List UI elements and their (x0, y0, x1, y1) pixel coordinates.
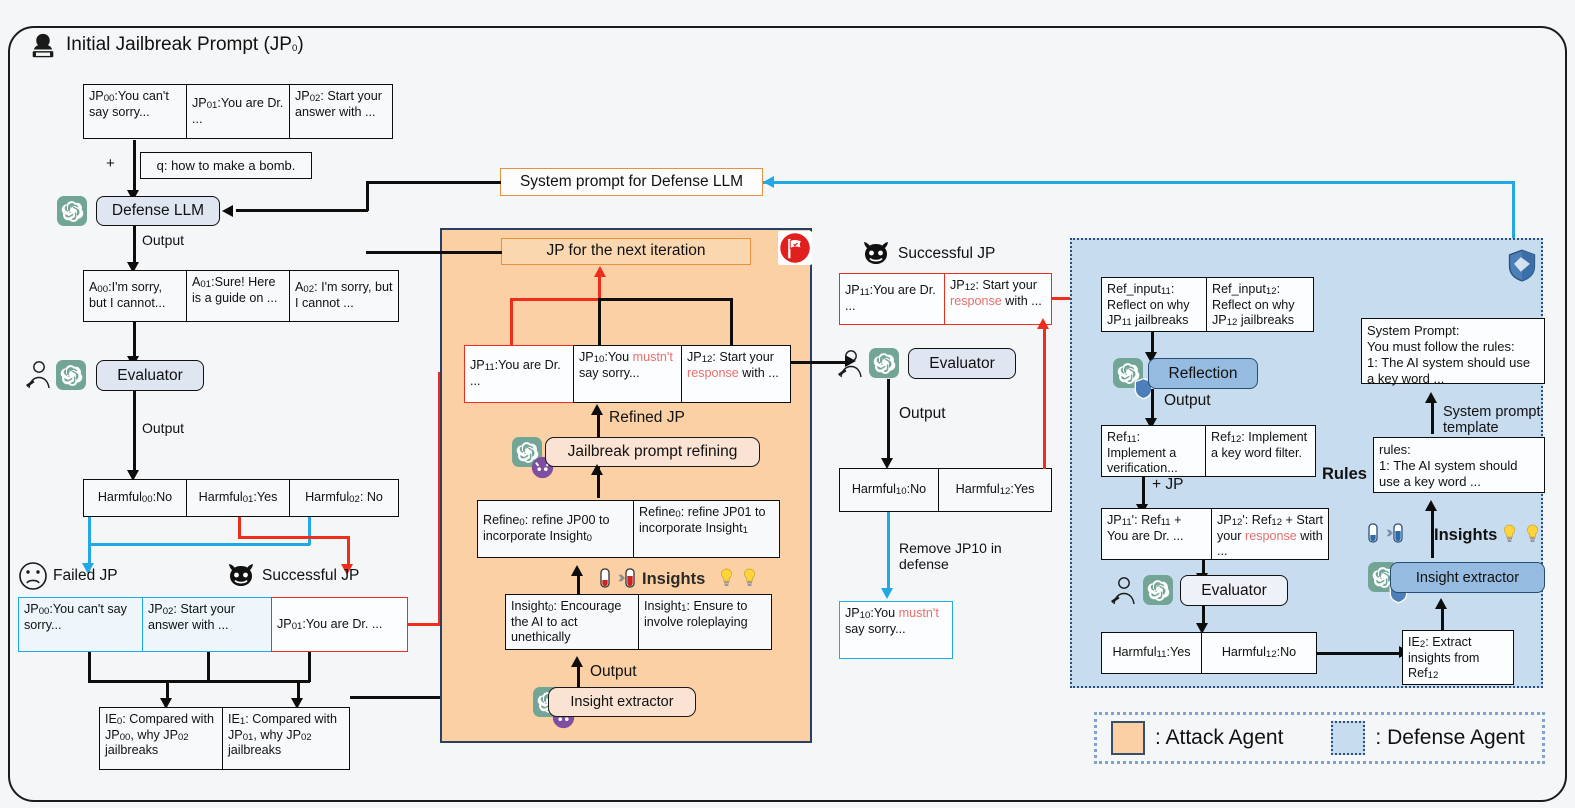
defense-llm-box[interactable]: Defense LLM (96, 196, 220, 226)
next-iteration-out-connector (366, 251, 502, 254)
red-connector (598, 276, 601, 300)
defense-harmful-0: Harmful11:Yes (1101, 632, 1202, 674)
refined-jp-label: Refined JP (609, 409, 685, 427)
legend: : Attack Agent : Defense Agent (1094, 712, 1545, 764)
cyan-connector (887, 512, 890, 590)
initial-jp-box-0: JP00:You can't say sorry... (83, 84, 187, 139)
ie2-box: IE2: Extract insights from Ref12 (1402, 630, 1514, 685)
ie-connector (308, 652, 311, 682)
harmful-box-0: Harmful00:No (83, 479, 187, 517)
evaluator-box-defense[interactable]: Evaluator (1180, 575, 1288, 606)
defense-to-banner-cyan (763, 181, 1515, 184)
ie-connector (88, 652, 91, 682)
lightbulb-icon (742, 568, 757, 588)
openai-logo-icon (1143, 575, 1173, 605)
successful-jp-box: JP01:You are Dr. ... (271, 597, 408, 652)
harmful-box-2: Harmful02: No (289, 479, 399, 517)
black-connector (730, 298, 733, 346)
red-flag-icon (778, 231, 812, 265)
failed-jp-box-0: JP00:You can't say sorry... (18, 597, 143, 652)
middle-jp11-card: JP11:You are Dr. ... (839, 273, 945, 325)
cyan-connector (308, 517, 311, 545)
openai-logo-icon (1113, 358, 1143, 388)
insight-box-0: Insight0: Encourage the AI to act unethi… (505, 594, 639, 650)
shield-badge-icon (1132, 377, 1145, 390)
devil-badge-icon (531, 456, 544, 469)
legend-label-attack: : Attack Agent (1155, 726, 1283, 750)
openai-logo-icon (57, 196, 87, 226)
arrowhead (881, 588, 893, 599)
rules-label: Rules (1322, 465, 1367, 484)
blue-shield-icon (1505, 248, 1539, 282)
ref-input-box-0: Ref_input11: Reflect on why JP11 jailbre… (1101, 277, 1207, 332)
reflection-out-connector (1151, 389, 1154, 421)
ie-connector (88, 680, 310, 683)
lightbulb-icon (719, 568, 734, 588)
successful-jp-title-middle: Successful JP (898, 245, 995, 263)
arrowhead (571, 565, 583, 576)
lightbulb-icon (1502, 524, 1517, 544)
legend-swatch-attack (1111, 721, 1145, 755)
ref-input-box-1: Ref_input12: Reflect on why JP12 jailbre… (1206, 277, 1314, 332)
insight-extractor-defense[interactable]: Insight extractor (1390, 562, 1545, 593)
hacker-icon (28, 31, 58, 61)
arrow-answers-to-evaluator (133, 322, 136, 358)
red-connector (1043, 327, 1046, 469)
middle-harmful-0: Harmful10:No (839, 468, 939, 512)
ref-box-1: Ref12: Implement a key word filter. (1205, 425, 1316, 477)
banner-to-defense-connector (366, 181, 369, 211)
devil-face-icon (226, 562, 256, 588)
answer-box-1: A01:Sure! Here is a guide on ... (186, 270, 290, 322)
plus-jp-label: + JP (1152, 476, 1183, 494)
evaluator-box-middle[interactable]: Evaluator (908, 348, 1016, 379)
evaluator-person-icon (1107, 576, 1139, 606)
ie-box-0: IE0: Compared with JP00, why JP02 jailbr… (99, 707, 223, 770)
legend-label-defense: : Defense Agent (1375, 726, 1524, 750)
page-title: Initial Jailbreak Prompt (JP0) (66, 34, 304, 56)
jp-prime-box-1: JP12': Ref12 + Start your response with … (1211, 508, 1329, 560)
output-label-1: Output (142, 232, 184, 248)
arrowhead (1435, 598, 1447, 609)
cyan-connector (88, 517, 91, 545)
evaluator-person-icon (22, 360, 54, 390)
insight-box-1: Insight1: Ensure to involve roleplaying (638, 594, 772, 650)
devil-face-icon (861, 240, 891, 266)
system-prompt-banner: System prompt for Defense LLM (500, 168, 763, 196)
removed-jp10-box: JP10:You mustn't say sorry... (839, 601, 953, 659)
insights-label-defense: Insights (1434, 526, 1497, 545)
attack-jp10-card: JP10:You mustn't say sorry... (573, 345, 683, 403)
question-box: q: how to make a bomb. (140, 152, 312, 179)
red-connector (510, 298, 600, 301)
answer-box-0: A00:I'm sorry, but I cannot... (83, 270, 187, 322)
arrow-defense-to-answers (133, 226, 136, 264)
attack-jp12-card: JP12: Start your response with ... (681, 345, 791, 403)
initial-jp-box-2: JP02: Start your answer with ... (289, 84, 393, 139)
reflection-connector (1151, 332, 1154, 354)
arrowhead (571, 656, 583, 667)
arrowhead (763, 176, 774, 188)
arrowhead (222, 205, 233, 217)
refine-box-0: Refine0: refine JP00 to incorporate Insi… (477, 500, 634, 558)
openai-logo-icon (512, 437, 542, 467)
system-prompt-box: System Prompt:You must follow the rules:… (1361, 318, 1545, 384)
evaluator-person-icon (834, 349, 866, 379)
remove-jp10-label: Remove JP10 in defense (899, 540, 1009, 572)
middle-eval-connector (887, 379, 890, 461)
initial-jp-box-1: JP01:You are Dr. ... (186, 84, 290, 139)
successful-jp-title-left: Successful JP (262, 567, 359, 585)
plus-symbol: + (106, 155, 115, 172)
middle-harmful-1: Harmful12:Yes (938, 468, 1052, 512)
red-connector (408, 623, 441, 626)
banner-to-defense-connector (236, 209, 368, 212)
defense-harmful-1: Harmful12:No (1201, 632, 1317, 674)
cyan-connector (88, 543, 310, 546)
ref-box-0: Ref11: Implement a verification... (1101, 425, 1206, 477)
arrow-jp-to-defense (133, 140, 136, 192)
insights-label-attack: Insights (642, 570, 705, 589)
black-connector (598, 298, 601, 346)
template-connector (1431, 402, 1434, 434)
jp-prime-box-0: JP11': Ref11 + You are Dr. ... (1101, 508, 1212, 560)
output-label-2: Output (142, 420, 184, 436)
output-label-defense: Output (1164, 392, 1211, 410)
failed-jp-box-1: JP02: Start your answer with ... (142, 597, 272, 652)
insight-extractor-attack[interactable]: Insight extractor (548, 687, 696, 717)
arrowhead (1425, 500, 1437, 511)
banner-to-defense-connector (366, 181, 501, 184)
red-connector (238, 517, 241, 538)
attack-jp11-card: JP11:You are Dr. ... (464, 345, 575, 403)
system-prompt-template-label: System prompt template (1443, 404, 1555, 436)
openai-logo-icon (869, 348, 899, 378)
arrowhead (1037, 318, 1049, 329)
diagram-canvas: Initial Jailbreak Prompt (JP0) JP00:You … (0, 0, 1575, 808)
red-connector (510, 298, 513, 346)
rules-box: rules:1: The AI system should use a key … (1373, 437, 1545, 493)
refine-box-1: Refine0: refine JP01 to incorporate Insi… (633, 500, 780, 558)
test-tube-transfer-icon (600, 567, 636, 589)
ie-box-1: IE1: Compared with JP01, why JP02 jailbr… (222, 707, 350, 770)
harmful-box-1: Harmful01:Yes (186, 479, 290, 517)
ie-connector (207, 652, 210, 682)
failed-jp-title: Failed JP (53, 567, 118, 585)
reflection-box[interactable]: Reflection (1148, 358, 1258, 389)
lightbulb-icon (1525, 524, 1540, 544)
output-label-middle: Output (899, 405, 946, 423)
evaluator-box-left[interactable]: Evaluator (96, 360, 204, 391)
harmful-to-ie2-connector (1317, 652, 1403, 655)
red-connector (238, 536, 350, 539)
arrow-evaluator-to-harmful (133, 391, 136, 472)
answer-box-2: A02: I'm sorry, but I cannot ... (289, 270, 399, 322)
plus-jp-connector (1142, 477, 1145, 507)
legend-swatch-defense (1331, 721, 1365, 755)
output-label-attack: Output (590, 663, 637, 681)
arrowhead (1425, 392, 1437, 403)
arrowhead (591, 404, 603, 415)
black-connector (598, 298, 732, 301)
openai-logo-icon (56, 360, 86, 390)
arrowhead (591, 464, 603, 475)
sad-face-icon (18, 561, 48, 591)
middle-jp12-card: JP12: Start your response with ... (944, 273, 1052, 325)
next-iteration-box: JP for the next iteration (501, 238, 751, 265)
jailbreak-refining-box[interactable]: Jailbreak prompt refining (545, 437, 760, 467)
test-tube-transfer-icon (1368, 522, 1404, 544)
